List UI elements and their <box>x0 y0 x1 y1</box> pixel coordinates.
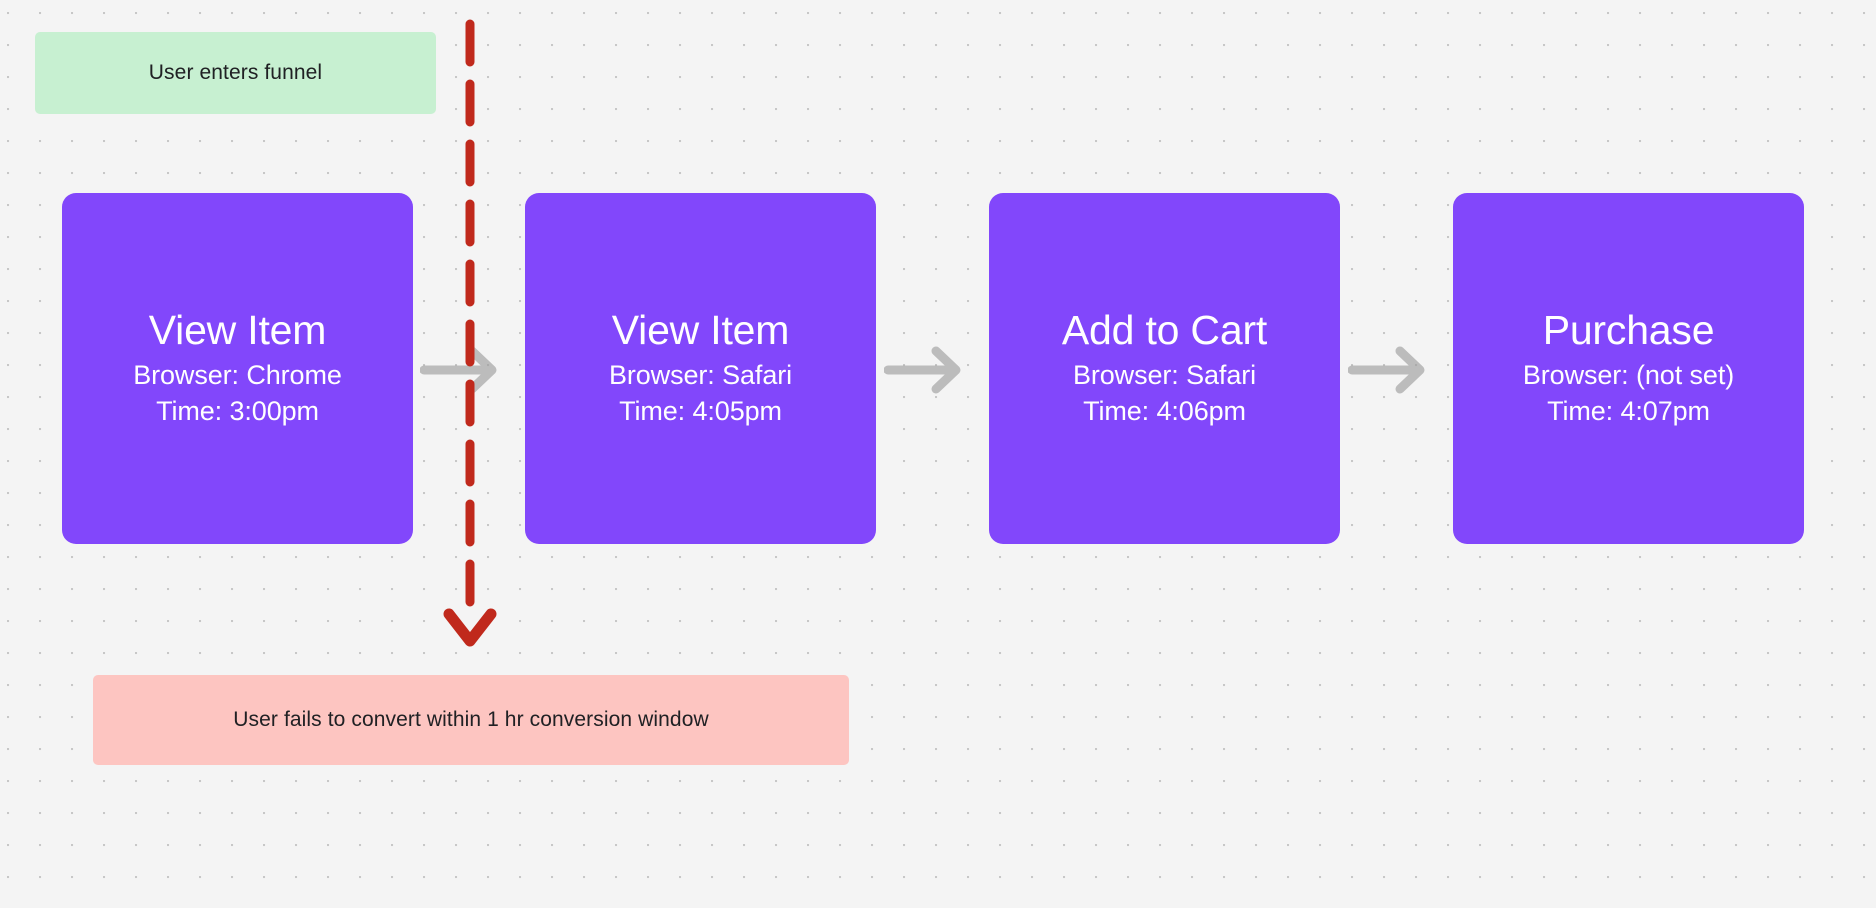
funnel-step-3-title: Add to Cart <box>1062 308 1267 353</box>
funnel-step-1-browser: Browser: Chrome <box>133 357 342 393</box>
funnel-step-1[interactable]: View Item Browser: Chrome Time: 3:00pm <box>62 193 413 544</box>
annotation-enter-label: User enters funnel <box>149 61 322 85</box>
funnel-step-4-time: Time: 4:07pm <box>1547 393 1710 429</box>
arrow-right-icon <box>884 340 970 400</box>
connector-arrow-3 <box>1348 340 1434 400</box>
funnel-step-2-title: View Item <box>612 308 789 353</box>
funnel-step-2-time: Time: 4:05pm <box>619 393 782 429</box>
annotation-fail-label: User fails to convert within 1 hr conver… <box>233 708 708 732</box>
funnel-step-4[interactable]: Purchase Browser: (not set) Time: 4:07pm <box>1453 193 1804 544</box>
funnel-step-1-title: View Item <box>149 308 326 353</box>
arrow-right-icon <box>1348 340 1434 400</box>
funnel-step-1-time: Time: 3:00pm <box>156 393 319 429</box>
conversion-window-dropline <box>430 18 520 678</box>
funnel-step-4-title: Purchase <box>1543 308 1715 353</box>
funnel-step-3-time: Time: 4:06pm <box>1083 393 1246 429</box>
annotation-conversion-failure: User fails to convert within 1 hr conver… <box>93 675 849 765</box>
funnel-step-4-browser: Browser: (not set) <box>1523 357 1734 393</box>
connector-arrow-2 <box>884 340 970 400</box>
funnel-step-3[interactable]: Add to Cart Browser: Safari Time: 4:06pm <box>989 193 1340 544</box>
funnel-step-3-browser: Browser: Safari <box>1073 357 1256 393</box>
funnel-step-2-browser: Browser: Safari <box>609 357 792 393</box>
funnel-diagram-canvas: User enters funnel View Item Browser: Ch… <box>0 0 1876 908</box>
annotation-user-enters-funnel: User enters funnel <box>35 32 436 114</box>
dashed-down-arrow-icon <box>430 18 520 678</box>
funnel-step-2[interactable]: View Item Browser: Safari Time: 4:05pm <box>525 193 876 544</box>
